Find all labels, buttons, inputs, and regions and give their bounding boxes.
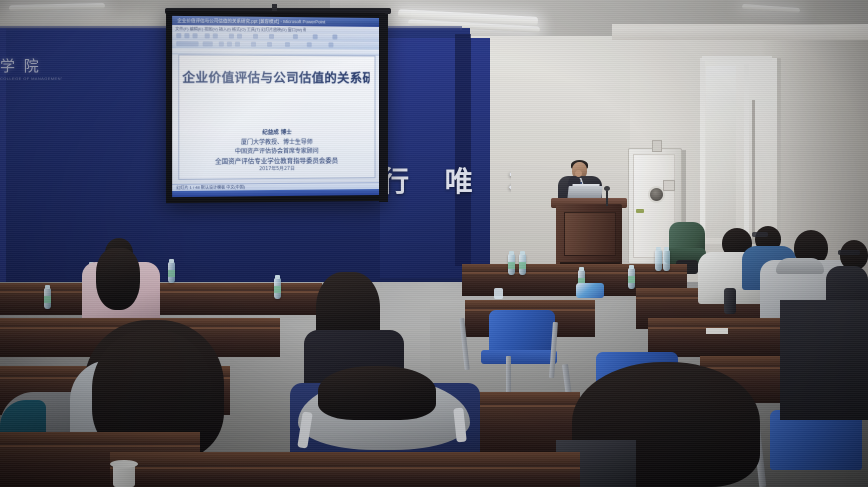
ppt-toolbar-icon [219, 42, 224, 47]
ppt-toolbar-icon [293, 34, 298, 39]
bottle-cap [509, 251, 514, 255]
lectern-front-panel [564, 212, 616, 256]
ppt-toolbar-icon [285, 42, 290, 47]
ppt-toolbar-icon [313, 34, 318, 39]
projector-screen-bezel [379, 14, 388, 202]
bottle-label [44, 296, 51, 303]
cabinet-vent-pipe [652, 140, 662, 152]
thermos-bottle [724, 288, 736, 314]
ppt-fontsize-dropdown [203, 41, 213, 46]
microphone-icon [604, 186, 610, 191]
paper-sheet [706, 328, 728, 334]
ppt-toolbar-icon [253, 34, 258, 39]
navy-back-wall-right [380, 38, 490, 278]
bottle-label [519, 262, 526, 269]
bottle-label [274, 286, 281, 293]
ppt-toolbar-icon [237, 34, 242, 39]
wall-corner-gap [455, 34, 471, 266]
bottle-cap [45, 285, 50, 289]
projector-screen: 企业价值评估与公司估值的关系研究.ppt [兼容模式] - Microsoft … [172, 16, 379, 197]
wall-calligraphy-text: 行 唯 本 [381, 160, 511, 202]
blue-tote-bag [576, 283, 604, 298]
bottle-cap [520, 251, 525, 255]
ppt-toolbar-icon [307, 42, 312, 47]
projector-screen-hook [272, 4, 277, 11]
ppt-toolbar-icon [269, 34, 274, 39]
window-mullion [752, 100, 755, 244]
blue-chair[interactable] [489, 310, 555, 354]
bottle-label [508, 262, 515, 269]
bottle-label [628, 276, 635, 283]
chair-leg [506, 356, 511, 394]
bottle-cap [629, 265, 634, 269]
glasses-icon [838, 250, 860, 255]
ppt-font-dropdown [176, 41, 198, 46]
foreground-person-hair [318, 366, 436, 420]
bottle-cap [169, 259, 174, 263]
window-header [702, 56, 772, 61]
cabinet-panel [663, 180, 675, 191]
ppt-toolbar-icon [184, 33, 189, 38]
ppt-toolbar-icon [229, 34, 234, 39]
desk-surface [0, 432, 200, 446]
window-glass [706, 66, 736, 238]
ppt-toolbar-icon [227, 42, 232, 47]
blue-chair-seat[interactable] [481, 350, 557, 364]
cup-lid [110, 460, 138, 468]
water-bottle [663, 250, 670, 271]
cabinet-latch-icon [636, 209, 644, 213]
ppt-toolbar-icon [176, 33, 181, 38]
ppt-toolbar-icon [251, 42, 256, 47]
slide-body-line: 纪益成 博士 [178, 128, 373, 137]
audience-long-hair [96, 248, 140, 310]
window-mullion [744, 64, 749, 244]
water-bottle [494, 288, 503, 299]
slide-date-line: 2017年5月27日 [178, 164, 373, 172]
slide-title: 企业价值评估与公司估值的关系研究 [182, 67, 369, 86]
bottle-cap [579, 267, 584, 271]
hoodie-collar [776, 258, 824, 274]
microphone-stand [606, 190, 608, 206]
institution-subtitle: COLLEGE OF MANAGEMENT [0, 76, 62, 86]
bottle-label [168, 270, 175, 277]
ppt-toolbar-icon [332, 34, 337, 39]
ppt-toolbar-icon [328, 42, 333, 47]
foreground-person-torso [780, 300, 868, 420]
desk-front [110, 467, 580, 487]
ppt-toolbar-icon [235, 42, 240, 47]
water-bottle [655, 250, 662, 271]
lecture-hall-photo: 学 院 COLLEGE OF MANAGEMENT 行 唯 本 企业价值评估与公… [0, 0, 868, 487]
speaker-hand [575, 170, 582, 177]
bottle-cap [656, 247, 661, 251]
desk-surface [110, 452, 580, 468]
ppt-toolbar-icon [205, 33, 210, 38]
ppt-toolbar-icon [193, 33, 198, 38]
bottle-cap [275, 275, 280, 279]
ppt-toolbar-icon [213, 33, 218, 38]
bottle-cap [664, 247, 669, 251]
ppt-toolbar-icon [267, 42, 272, 47]
glasses-icon [752, 232, 768, 237]
